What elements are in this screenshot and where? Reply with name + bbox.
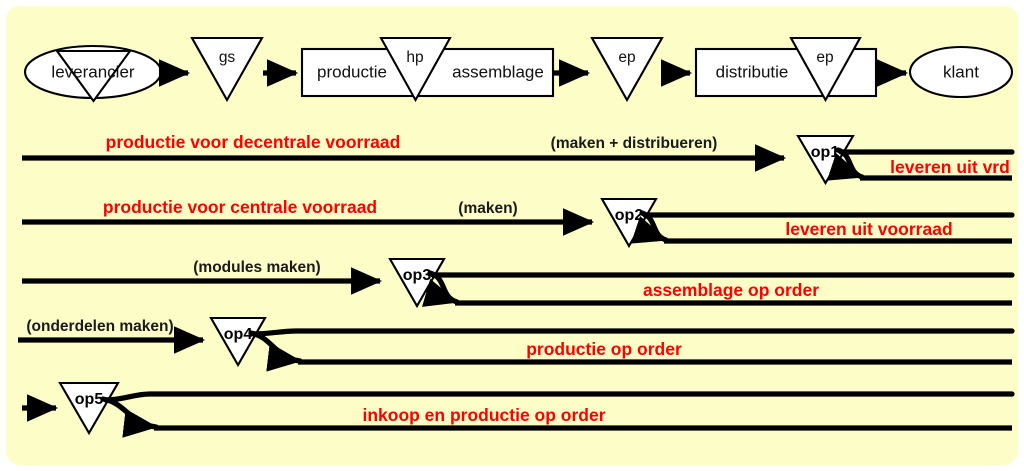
node-label-gs: gs — [219, 49, 236, 66]
row-op2: productie voor centrale voorraad (maken)… — [22, 197, 1012, 246]
row-op5-downstream-top-line — [106, 394, 1012, 400]
row-op1-upstream-red-label: productie voor decentrale voorraad — [106, 132, 401, 152]
row-op4-downstream-red-label: productie op order — [526, 339, 682, 359]
node-label-hp: hp — [406, 49, 423, 66]
row-op3-downstream-red-label: assemblage op order — [643, 280, 819, 300]
row-op4: (onderdelen maken) op4 productie op orde… — [18, 318, 1012, 365]
row-op1: productie voor decentrale voorraad (make… — [22, 132, 1012, 183]
node-label-ep-1: ep — [618, 49, 635, 66]
row-op5-downstream-red-label: inkoop en productie op order — [362, 405, 605, 425]
row-op3: (modules maken) op3 assemblage op order — [22, 259, 1012, 306]
row-op5: op5 inkoop en productie op order — [22, 383, 1012, 433]
decoupling-point-op1-label: op1 — [811, 144, 840, 161]
row-op3-upstream-black-label: (modules maken) — [193, 259, 320, 276]
diagram-root: leverancier gs productie assemblage hp e… — [0, 0, 1024, 471]
row-op5-fork-curve — [103, 399, 156, 427]
row-op4-downstream-top-line — [254, 331, 1012, 334]
node-label-assemblage: assemblage — [452, 62, 544, 81]
node-klant[interactable]: klant — [910, 47, 1012, 97]
decoupling-point-op2-label: op2 — [615, 207, 644, 224]
node-leverancier[interactable]: leverancier — [25, 46, 161, 101]
decoupling-point-op4-label: op4 — [224, 326, 253, 343]
node-label-klant: klant — [943, 62, 979, 81]
row-op4-fork-curve — [251, 333, 300, 361]
node-label-ep-2: ep — [816, 49, 833, 66]
node-gs[interactable]: gs — [192, 38, 262, 100]
node-label-productie: productie — [317, 62, 387, 81]
decoupling-point-op5-label: op5 — [75, 391, 104, 408]
row-op2-upstream-black-label: (maken) — [458, 200, 517, 217]
diagram-canvas: leverancier gs productie assemblage hp e… — [0, 0, 1024, 471]
row-op1-upstream-black-label: (maken + distribueren) — [551, 135, 718, 152]
row-op1-downstream-red-label: leveren uit vrd — [890, 157, 1010, 177]
row-op4-upstream-black-label: (onderdelen maken) — [26, 318, 173, 335]
row-op2-upstream-red-label: productie voor centrale voorraad — [103, 197, 377, 217]
node-ep-1[interactable]: ep — [592, 38, 662, 100]
row-op2-downstream-red-label: leveren uit voorraad — [785, 219, 952, 239]
node-label-leverancier: leverancier — [51, 62, 134, 81]
decoupling-point-op3-label: op3 — [403, 267, 432, 284]
node-label-distributie: distributie — [716, 62, 789, 81]
